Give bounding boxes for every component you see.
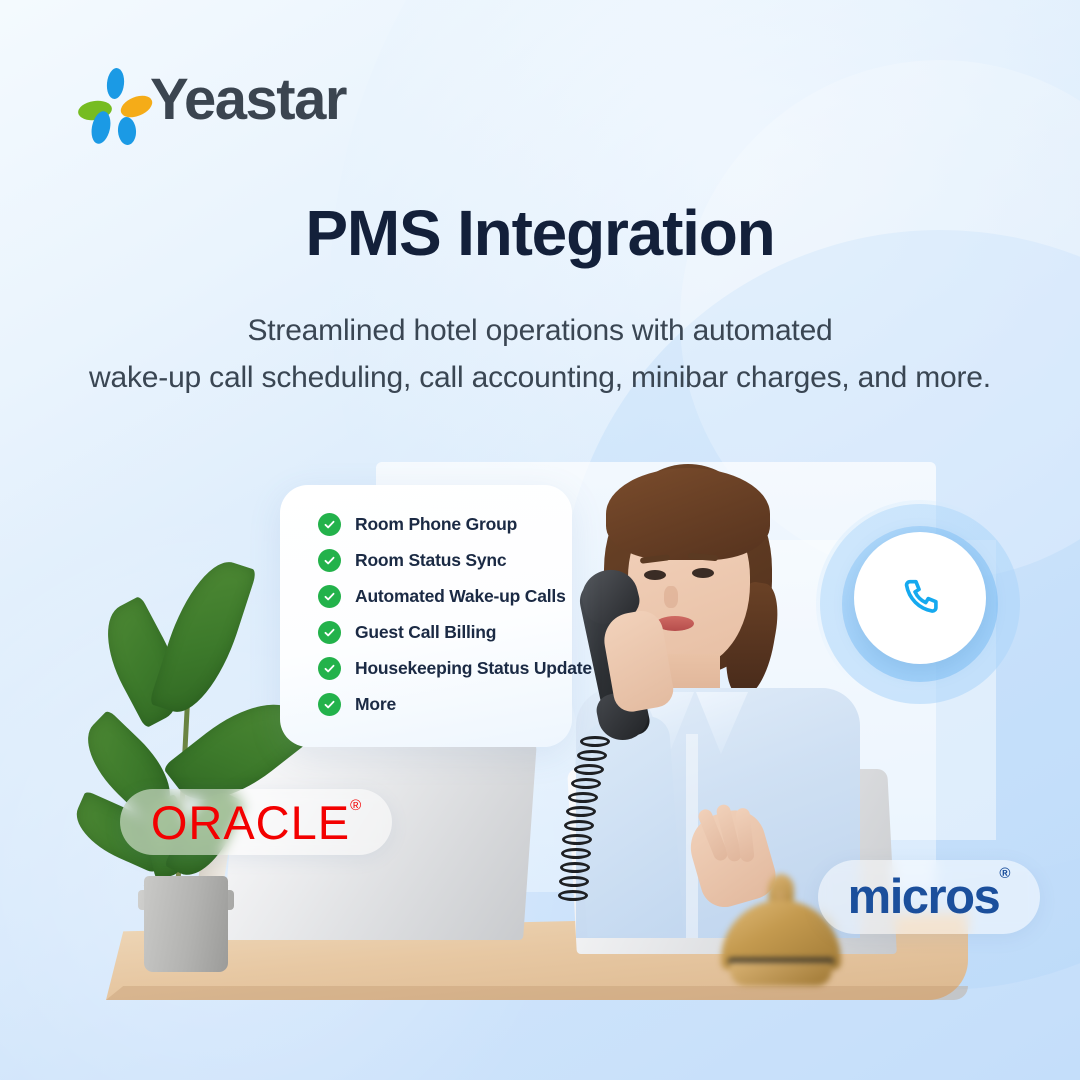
list-item-label: More xyxy=(355,694,396,715)
oracle-logo-badge[interactable]: ORACLE® xyxy=(120,789,392,855)
desk-edge xyxy=(106,986,968,1000)
list-item[interactable]: Room Phone Group xyxy=(318,513,572,536)
page-subtitle: Streamlined hotel operations with automa… xyxy=(0,308,1080,401)
logo-wordmark: Yeastar xyxy=(150,71,346,129)
call-badge-circle xyxy=(854,532,986,664)
eye-left xyxy=(644,570,666,580)
list-item[interactable]: Automated Wake-up Calls xyxy=(318,585,572,608)
subtitle-line-1: Streamlined hotel operations with automa… xyxy=(0,308,1080,355)
eye-right xyxy=(692,568,714,578)
micros-wordmark: micros xyxy=(848,870,1000,924)
phone-handset-icon xyxy=(897,575,943,621)
list-item[interactable]: Room Status Sync xyxy=(318,549,572,572)
bell-base xyxy=(730,962,832,986)
check-circle-icon xyxy=(318,657,341,680)
check-circle-icon xyxy=(318,585,341,608)
plant-pot xyxy=(144,876,228,972)
oracle-logo: ORACLE® xyxy=(151,795,361,850)
check-circle-icon xyxy=(318,513,341,536)
list-item-label: Automated Wake-up Calls xyxy=(355,586,566,607)
logo-petal-top xyxy=(105,67,125,100)
list-item-label: Room Status Sync xyxy=(355,550,506,571)
list-item[interactable]: More xyxy=(318,693,572,716)
subtitle-line-2: wake-up call scheduling, call accounting… xyxy=(0,355,1080,402)
hair-front xyxy=(606,468,770,560)
list-item[interactable]: Guest Call Billing xyxy=(318,621,572,644)
plant-leaf xyxy=(149,551,257,722)
oracle-wordmark: ORACLE xyxy=(151,796,350,849)
feature-list-card: Room Phone Group Room Status Sync Automa… xyxy=(280,485,572,747)
yeastar-flower-logo-icon xyxy=(80,69,138,131)
page-title: PMS Integration xyxy=(0,196,1080,270)
list-item-label: Room Phone Group xyxy=(355,514,517,535)
registered-mark-icon: ® xyxy=(999,865,1010,882)
check-circle-icon xyxy=(318,693,341,716)
phone-cord xyxy=(556,736,636,926)
list-item-label: Housekeeping Status Update xyxy=(355,658,592,679)
list-item-label: Guest Call Billing xyxy=(355,622,496,643)
registered-mark-icon: ® xyxy=(350,797,361,814)
check-circle-icon xyxy=(318,621,341,644)
nose xyxy=(664,586,678,608)
yeastar-logo[interactable]: Yeastar xyxy=(80,66,346,134)
call-badge[interactable] xyxy=(820,504,1020,704)
micros-logo-badge[interactable]: micros® xyxy=(818,860,1040,934)
list-item[interactable]: Housekeeping Status Update xyxy=(318,657,572,680)
check-circle-icon xyxy=(318,549,341,572)
micros-logo: micros® xyxy=(848,869,1011,925)
